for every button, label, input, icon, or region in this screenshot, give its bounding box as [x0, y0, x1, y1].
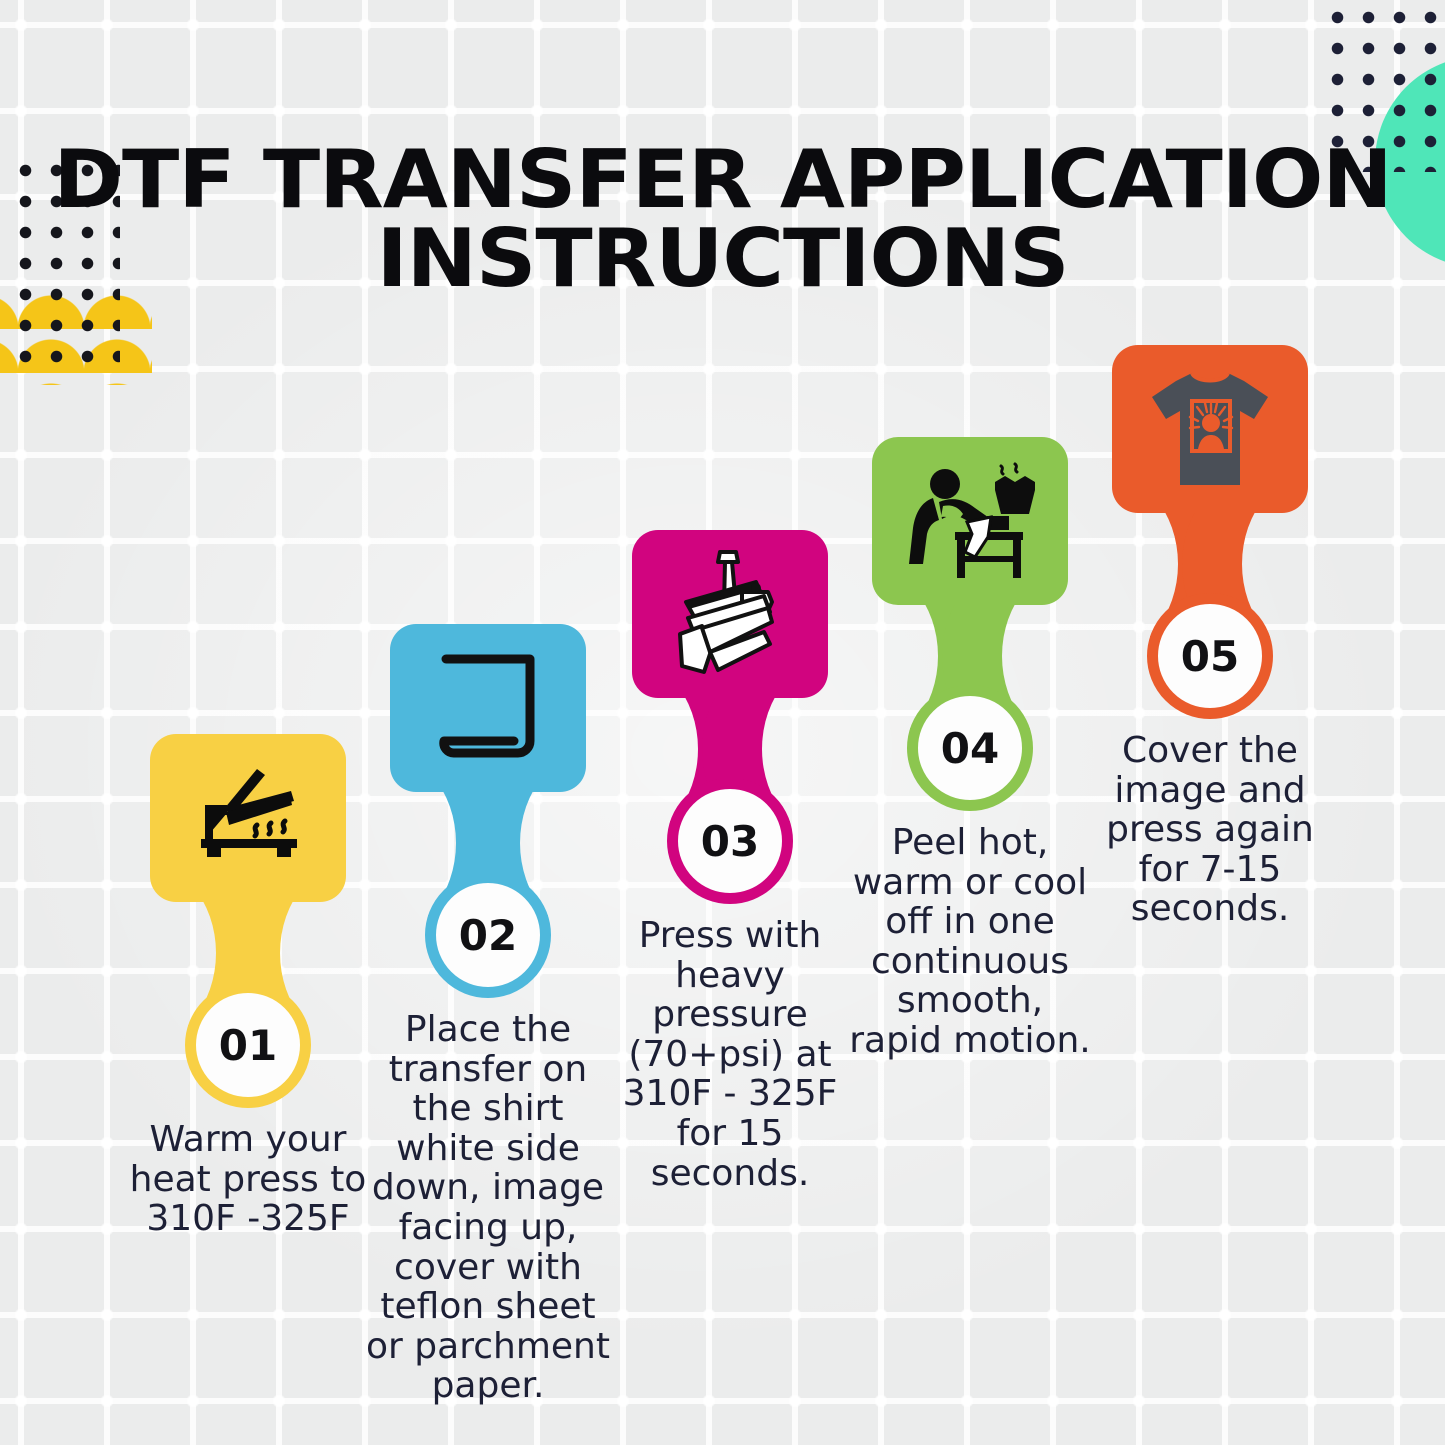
step-01-connector: 01	[128, 898, 368, 1114]
step-02-number: 02	[459, 911, 517, 960]
steps-container: 01 Warm your heat press to 310F -325F 02…	[0, 0, 1445, 1445]
heat-press-open-icon	[187, 767, 309, 869]
step-04-number: 04	[941, 724, 999, 773]
step-03-card[interactable]	[632, 530, 828, 698]
step-item-05[interactable]: 05 Cover the image and press again for 7…	[1090, 345, 1330, 929]
step-item-04[interactable]: 04 Peel hot, warm or cool off in one con…	[850, 437, 1090, 1061]
step-02-connector: 02	[368, 788, 608, 1004]
step-02-caption: Place the transfer on the shirt white si…	[364, 1010, 612, 1406]
step-item-02[interactable]: 02 Place the transfer on the shirt white…	[368, 624, 608, 1406]
step-03-number-badge: 03	[667, 778, 793, 904]
step-04-connector: 04	[850, 601, 1090, 817]
step-04-caption: Peel hot, warm or cool off in one contin…	[846, 823, 1094, 1061]
step-05-card[interactable]	[1112, 345, 1308, 513]
printed-tshirt-icon	[1146, 367, 1274, 491]
person-peeling-transfer-icon	[903, 460, 1037, 582]
step-05-number-badge: 05	[1147, 593, 1273, 719]
step-02-number-badge: 02	[425, 872, 551, 998]
step-05-number: 05	[1181, 632, 1239, 681]
step-01-card[interactable]	[150, 734, 346, 902]
step-item-01[interactable]: 01 Warm your heat press to 310F -325F	[128, 734, 368, 1239]
step-04-number-badge: 04	[907, 685, 1033, 811]
step-03-connector: 03	[610, 694, 850, 910]
step-01-number-badge: 01	[185, 982, 311, 1108]
step-02-card[interactable]	[390, 624, 586, 792]
step-05-caption: Cover the image and press again for 7-15…	[1086, 731, 1334, 929]
step-05-connector: 05	[1090, 509, 1330, 725]
transfer-sheet-icon	[436, 653, 540, 763]
step-03-caption: Press with heavy pressure (70+psi) at 31…	[606, 916, 854, 1193]
heat-press-machine-icon	[672, 548, 788, 680]
step-01-caption: Warm your heat press to 310F -325F	[124, 1120, 372, 1239]
step-item-03[interactable]: 03 Press with heavy pressure (70+psi) at…	[610, 530, 850, 1193]
step-04-card[interactable]	[872, 437, 1068, 605]
step-01-number: 01	[219, 1021, 277, 1070]
step-03-number: 03	[701, 817, 759, 866]
